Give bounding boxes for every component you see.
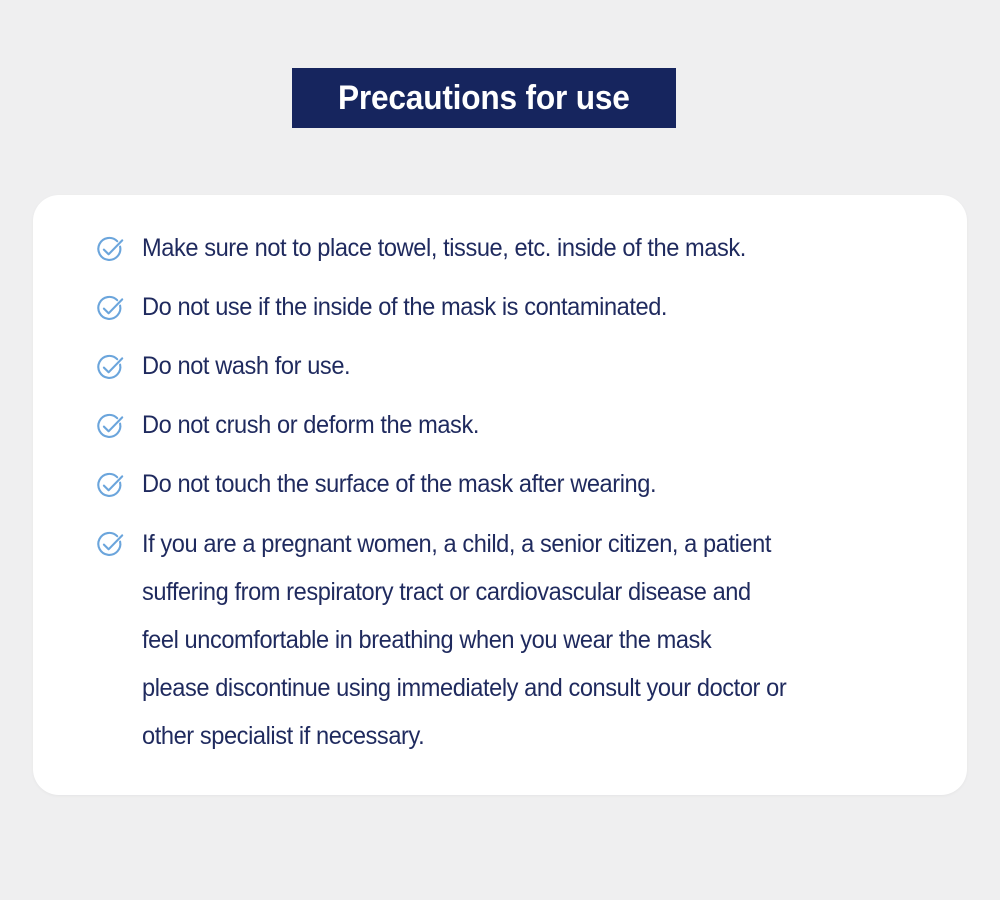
list-item: Make sure not to place towel, tissue, et… <box>95 233 947 292</box>
paragraph-line: feel uncomfortable in breathing when you… <box>142 616 889 664</box>
list-item: If you are a pregnant women, a child, a … <box>95 528 947 760</box>
paragraph-line: other specialist if necessary. <box>142 712 889 760</box>
title-banner: Precautions for use <box>292 68 676 128</box>
check-circle-icon <box>95 235 125 265</box>
precautions-list: Make sure not to place towel, tissue, et… <box>95 233 947 760</box>
list-item-paragraph: If you are a pregnant women, a child, a … <box>142 520 889 760</box>
check-circle-icon <box>95 294 125 324</box>
check-circle-icon <box>95 412 125 442</box>
paragraph-line: please discontinue using immediately and… <box>142 664 889 712</box>
paragraph-line: If you are a pregnant women, a child, a … <box>142 520 889 568</box>
page-title: Precautions for use <box>338 81 630 115</box>
list-item-label: Make sure not to place towel, tissue, et… <box>142 233 746 263</box>
list-item-label: Do not wash for use. <box>142 351 350 381</box>
precautions-page: Precautions for use Make sure not to pla… <box>0 0 1000 900</box>
paragraph-line: suffering from respiratory tract or card… <box>142 568 889 616</box>
list-item-label: Do not crush or deform the mask. <box>142 410 479 440</box>
check-circle-icon <box>95 471 125 501</box>
list-item: Do not wash for use. <box>95 351 947 410</box>
precautions-card: Make sure not to place towel, tissue, et… <box>33 195 967 795</box>
check-circle-icon <box>95 353 125 383</box>
check-circle-icon <box>95 530 125 560</box>
list-item: Do not use if the inside of the mask is … <box>95 292 947 351</box>
list-item-label: Do not touch the surface of the mask aft… <box>142 469 656 499</box>
list-item: Do not crush or deform the mask. <box>95 410 947 469</box>
list-item-label: Do not use if the inside of the mask is … <box>142 292 667 322</box>
